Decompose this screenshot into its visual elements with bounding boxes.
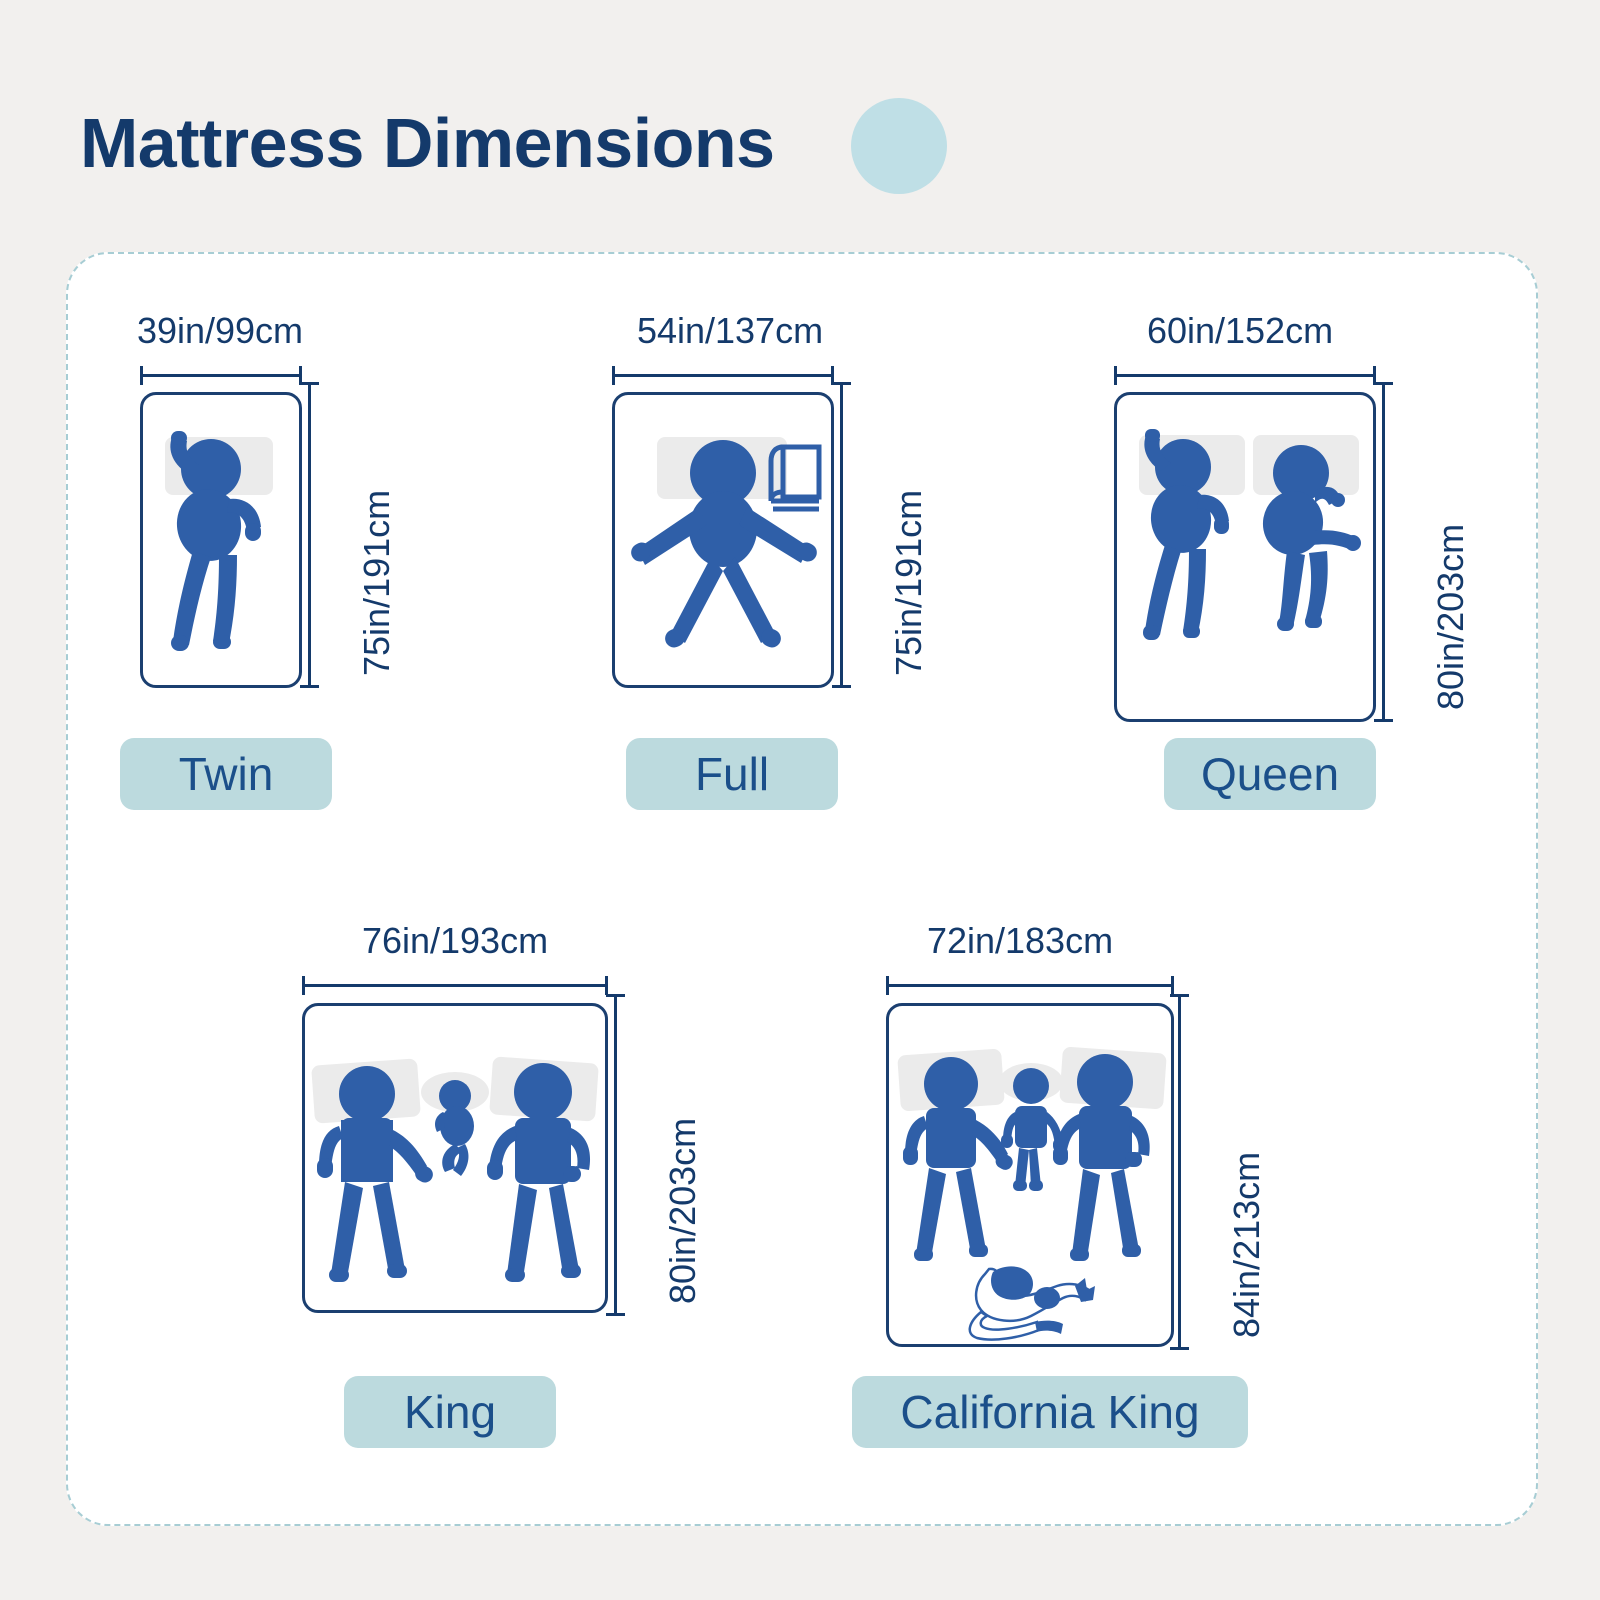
queen-height-label: 80in/203cm <box>1430 524 1472 710</box>
title-accent-circle <box>851 98 947 194</box>
bed-california-king <box>886 1003 1174 1347</box>
twin-width-dimension-line <box>140 366 302 384</box>
bed-label-twin[interactable]: Twin <box>120 738 332 810</box>
full-width-label: 54in/137cm <box>580 310 880 352</box>
king-width-dimension-line <box>302 976 608 994</box>
full-height-label: 75in/191cm <box>888 490 930 676</box>
bed-label-queen[interactable]: Queen <box>1164 738 1376 810</box>
full-height-dimension-line <box>832 382 850 688</box>
bed-label-king[interactable]: King <box>344 1376 556 1448</box>
page-title: Mattress Dimensions <box>80 88 980 208</box>
bed-full <box>612 392 834 688</box>
twin-height-label: 75in/191cm <box>356 490 398 676</box>
cat-icon <box>970 1266 1095 1339</box>
queen-width-label: 60in/152cm <box>1080 310 1400 352</box>
bed-label-full[interactable]: Full <box>626 738 838 810</box>
queen-height-dimension-line <box>1374 382 1392 722</box>
bed-label-california-king[interactable]: California King <box>852 1376 1248 1448</box>
bed-queen <box>1114 392 1376 722</box>
king-height-label: 80in/203cm <box>662 1118 704 1304</box>
figure-adult-spread-eagle <box>628 440 820 651</box>
figure-baby <box>435 1080 474 1176</box>
full-width-dimension-line <box>612 366 834 384</box>
twin-width-label: 39in/99cm <box>100 310 340 352</box>
king-height-dimension-line <box>606 994 624 1316</box>
california-king-width-label: 72in/183cm <box>860 920 1180 962</box>
infographic-root: Mattress Dimensions 39in/99cm 75in/191cm <box>0 0 1600 1600</box>
bed-king <box>302 1003 608 1313</box>
california-king-width-dimension-line <box>886 976 1174 994</box>
california-king-height-label: 84in/213cm <box>1226 1152 1268 1338</box>
king-width-label: 76in/193cm <box>280 920 630 962</box>
page-title-text: Mattress Dimensions <box>80 88 775 198</box>
twin-height-dimension-line <box>300 382 318 688</box>
bed-twin <box>140 392 302 688</box>
queen-width-dimension-line <box>1114 366 1376 384</box>
